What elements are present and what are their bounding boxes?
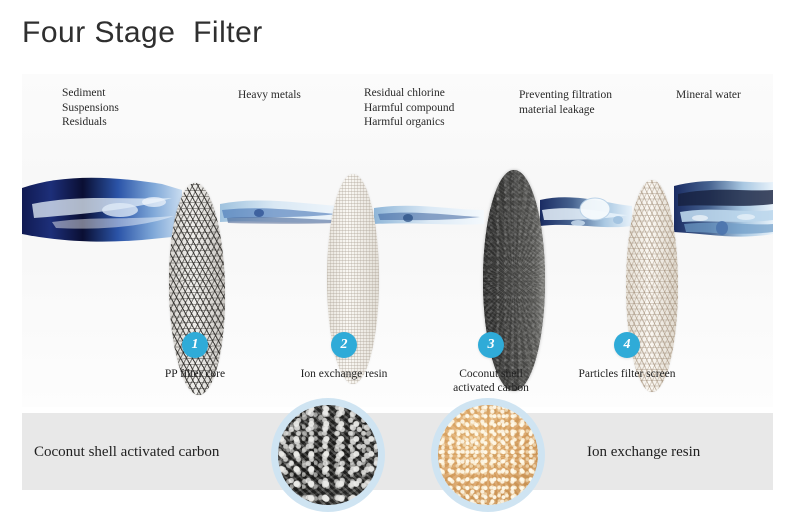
coconut-carbon-sample bbox=[271, 398, 385, 512]
desc-leakage: Preventing filtration material leakage bbox=[519, 88, 612, 117]
stage-badge-3[interactable]: 3 bbox=[478, 332, 504, 358]
page-title: Four Stage Filter bbox=[22, 16, 263, 50]
stage-label-2: Ion exchange resin bbox=[301, 367, 388, 381]
carbon-sample-image bbox=[278, 405, 378, 505]
desc-chlorine: Residual chlorine Harmful compound Harmf… bbox=[364, 86, 454, 130]
stage-label-4: Particles filter screen bbox=[578, 367, 675, 381]
stage-badge-2[interactable]: 2 bbox=[331, 332, 357, 358]
pp-filter-core-disc bbox=[167, 183, 227, 396]
stage-badge-4[interactable]: 4 bbox=[614, 332, 640, 358]
pp-mesh-texture bbox=[167, 183, 227, 396]
carbon-sample-label: Coconut shell activated carbon bbox=[34, 444, 219, 461]
stage-badge-1[interactable]: 1 bbox=[182, 332, 208, 358]
stage-label-1: PP filter core bbox=[165, 367, 225, 381]
resin-sample-image bbox=[438, 405, 538, 505]
filter-diagram-panel: Sediment Suspensions Residuals Heavy met… bbox=[22, 74, 773, 407]
desc-mineral-water: Mineral water bbox=[676, 88, 741, 103]
ion-exchange-resin-sample bbox=[431, 398, 545, 512]
screen-mesh-texture bbox=[626, 180, 678, 392]
resin-sample-label: Ion exchange resin bbox=[587, 444, 700, 461]
particles-screen-disc bbox=[626, 180, 678, 392]
desc-heavy-metals: Heavy metals bbox=[238, 88, 301, 103]
stage-label-3: Coconut shell activated carbon bbox=[453, 367, 529, 395]
desc-sediment: Sediment Suspensions Residuals bbox=[62, 86, 119, 130]
